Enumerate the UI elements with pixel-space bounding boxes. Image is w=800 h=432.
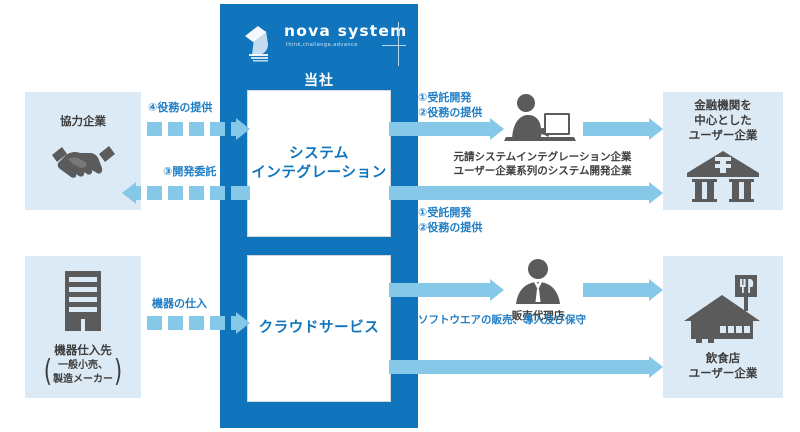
service-box-system-integration: システム インテグレーション bbox=[247, 90, 391, 237]
caption-equipment-purchase: 機器の仕入 bbox=[152, 296, 207, 311]
arrow-service-provision-to-company bbox=[147, 122, 250, 136]
entity-restaurant-user-companies: 飲食店 ユーザー企業 bbox=[663, 256, 783, 398]
service-label-system-integration: システム インテグレーション bbox=[251, 145, 387, 183]
entity-restaurant-label: 飲食店 ユーザー企業 bbox=[689, 351, 758, 381]
caption-software-sales: ソフトウエアの販売、導入及び保守 bbox=[418, 313, 586, 327]
service-label-cloud-service: クラウドサービス bbox=[259, 319, 380, 338]
businessperson-icon bbox=[510, 258, 566, 306]
caption-contract-dev-1: ①受託開発 ②役務の提供 bbox=[418, 90, 482, 120]
handshake-icon bbox=[46, 137, 120, 189]
caption-prime-contractor-line1: 元請システムインテグレーション企業 bbox=[420, 150, 665, 164]
caption-service-provision-to-company: ④役務の提供 bbox=[148, 100, 212, 115]
service-box-cloud-service: クラウドサービス bbox=[247, 255, 391, 402]
entity-supplier-sub: ( 一般小売、 製造メーカー ) bbox=[44, 358, 122, 386]
diagram-canvas: nova system think,challenge,advance 当社 シ… bbox=[0, 0, 800, 432]
intermediary-prime-contractor bbox=[500, 93, 578, 145]
caption-development-outsourcing: ③開発委託 bbox=[163, 164, 216, 179]
paren-close: ) bbox=[114, 358, 122, 386]
nova-system-logo-mark bbox=[242, 24, 278, 62]
entity-supplier-sub-line1: 一般小売、 bbox=[53, 359, 113, 372]
entity-finance-label: 金融機関を 中心とした ユーザー企業 bbox=[689, 98, 758, 143]
entity-supplier-sub-line2: 製造メーカー bbox=[53, 373, 113, 386]
arrow-cloud-to-restaurant-direct bbox=[389, 360, 663, 374]
person-at-laptop-icon bbox=[500, 93, 578, 145]
entity-partner-label: 協力企業 bbox=[60, 114, 106, 129]
arrow-si-to-prime-contractor bbox=[389, 122, 504, 136]
caption-contract-dev-2: ①受託開発 ②役務の提供 bbox=[418, 205, 482, 235]
entity-financial-user-companies: 金融機関を 中心とした ユーザー企業 bbox=[663, 92, 783, 210]
arrow-prime-contractor-to-finance bbox=[583, 122, 663, 136]
paren-open: ( bbox=[44, 358, 52, 386]
arrow-si-to-finance-direct bbox=[389, 186, 663, 200]
logo-divider-horizontal bbox=[382, 45, 406, 46]
logo-divider-vertical bbox=[398, 22, 399, 66]
restaurant-icon bbox=[682, 273, 764, 347]
entity-supplier-label: 機器仕入先 bbox=[54, 343, 112, 358]
caption-prime-contractor-line2: ユーザー企業系列のシステム開発企業 bbox=[420, 164, 665, 178]
arrow-development-outsourcing bbox=[122, 186, 250, 200]
logo-wordmark: nova system bbox=[284, 22, 396, 40]
our-company-label: 当社 bbox=[220, 70, 418, 90]
arrow-cloud-to-sales-agency bbox=[389, 283, 504, 297]
company-logo: nova system think,challenge,advance bbox=[242, 22, 402, 66]
arrow-equipment-purchase bbox=[147, 316, 250, 330]
office-building-icon bbox=[55, 269, 111, 337]
entity-equipment-supplier: 機器仕入先 ( 一般小売、 製造メーカー ) bbox=[25, 256, 141, 398]
bank-icon bbox=[685, 149, 761, 205]
arrow-sales-agency-to-restaurant bbox=[583, 283, 663, 297]
